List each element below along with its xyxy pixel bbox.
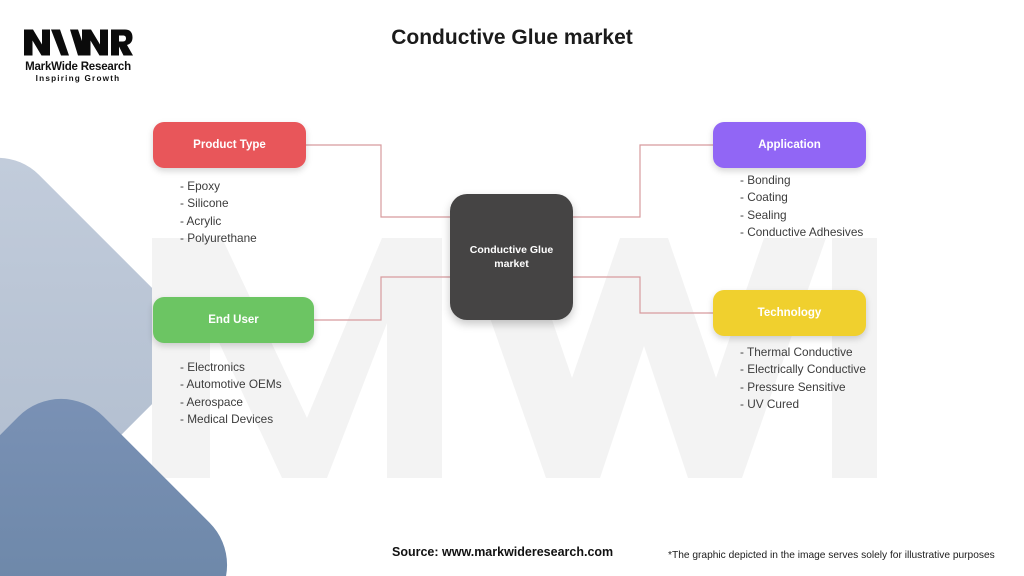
list-item: - UV Cured [740,396,866,413]
list-item: - Conductive Adhesives [740,224,863,241]
connector-technology [571,277,713,313]
node-application-label: Application [758,139,821,151]
list-item: - Automotive OEMs [180,376,282,393]
node-center-market[interactable]: Conductive Glue market [450,194,573,320]
node-technology[interactable]: Technology [713,290,866,336]
list-item: - Silicone [180,195,257,212]
list-application: - Bonding - Coating - Sealing - Conducti… [740,172,863,241]
source-text: Source: www.markwideresearch.com [392,545,613,559]
center-label-line2: market [494,258,528,270]
list-item: - Aerospace [180,394,282,411]
list-item: - Epoxy [180,178,257,195]
node-product-type[interactable]: Product Type [153,122,306,168]
node-application[interactable]: Application [713,122,866,168]
infographic-canvas: MarkWide Research Inspiring Growth Condu… [0,0,1024,576]
list-end-user: - Electronics - Automotive OEMs - Aerosp… [180,359,282,428]
list-item: - Sealing [740,207,863,224]
list-item: - Bonding [740,172,863,189]
logo-company-name: MarkWide Research [16,61,140,73]
center-label-line1: Conductive Glue [470,244,553,256]
list-product-type: - Epoxy - Silicone - Acrylic - Polyureth… [180,178,257,247]
list-item: - Thermal Conductive [740,344,866,361]
disclaimer-text: *The graphic depicted in the image serve… [668,550,995,561]
list-technology: - Thermal Conductive - Electrically Cond… [740,344,866,413]
list-item: - Electronics [180,359,282,376]
node-end-user[interactable]: End User [153,297,314,343]
connector-end-user [314,277,452,320]
list-item: - Polyurethane [180,230,257,247]
list-item: - Electrically Conductive [740,361,866,378]
node-product-type-label: Product Type [193,139,266,151]
list-item: - Medical Devices [180,411,282,428]
list-item: - Pressure Sensitive [740,379,866,396]
node-end-user-label: End User [208,314,259,326]
connector-application [571,145,713,217]
list-item: - Coating [740,189,863,206]
page-title: Conductive Glue market [0,26,1024,50]
connector-product-type [306,145,452,217]
node-technology-label: Technology [758,307,822,319]
logo-tagline: Inspiring Growth [16,74,140,83]
list-item: - Acrylic [180,213,257,230]
